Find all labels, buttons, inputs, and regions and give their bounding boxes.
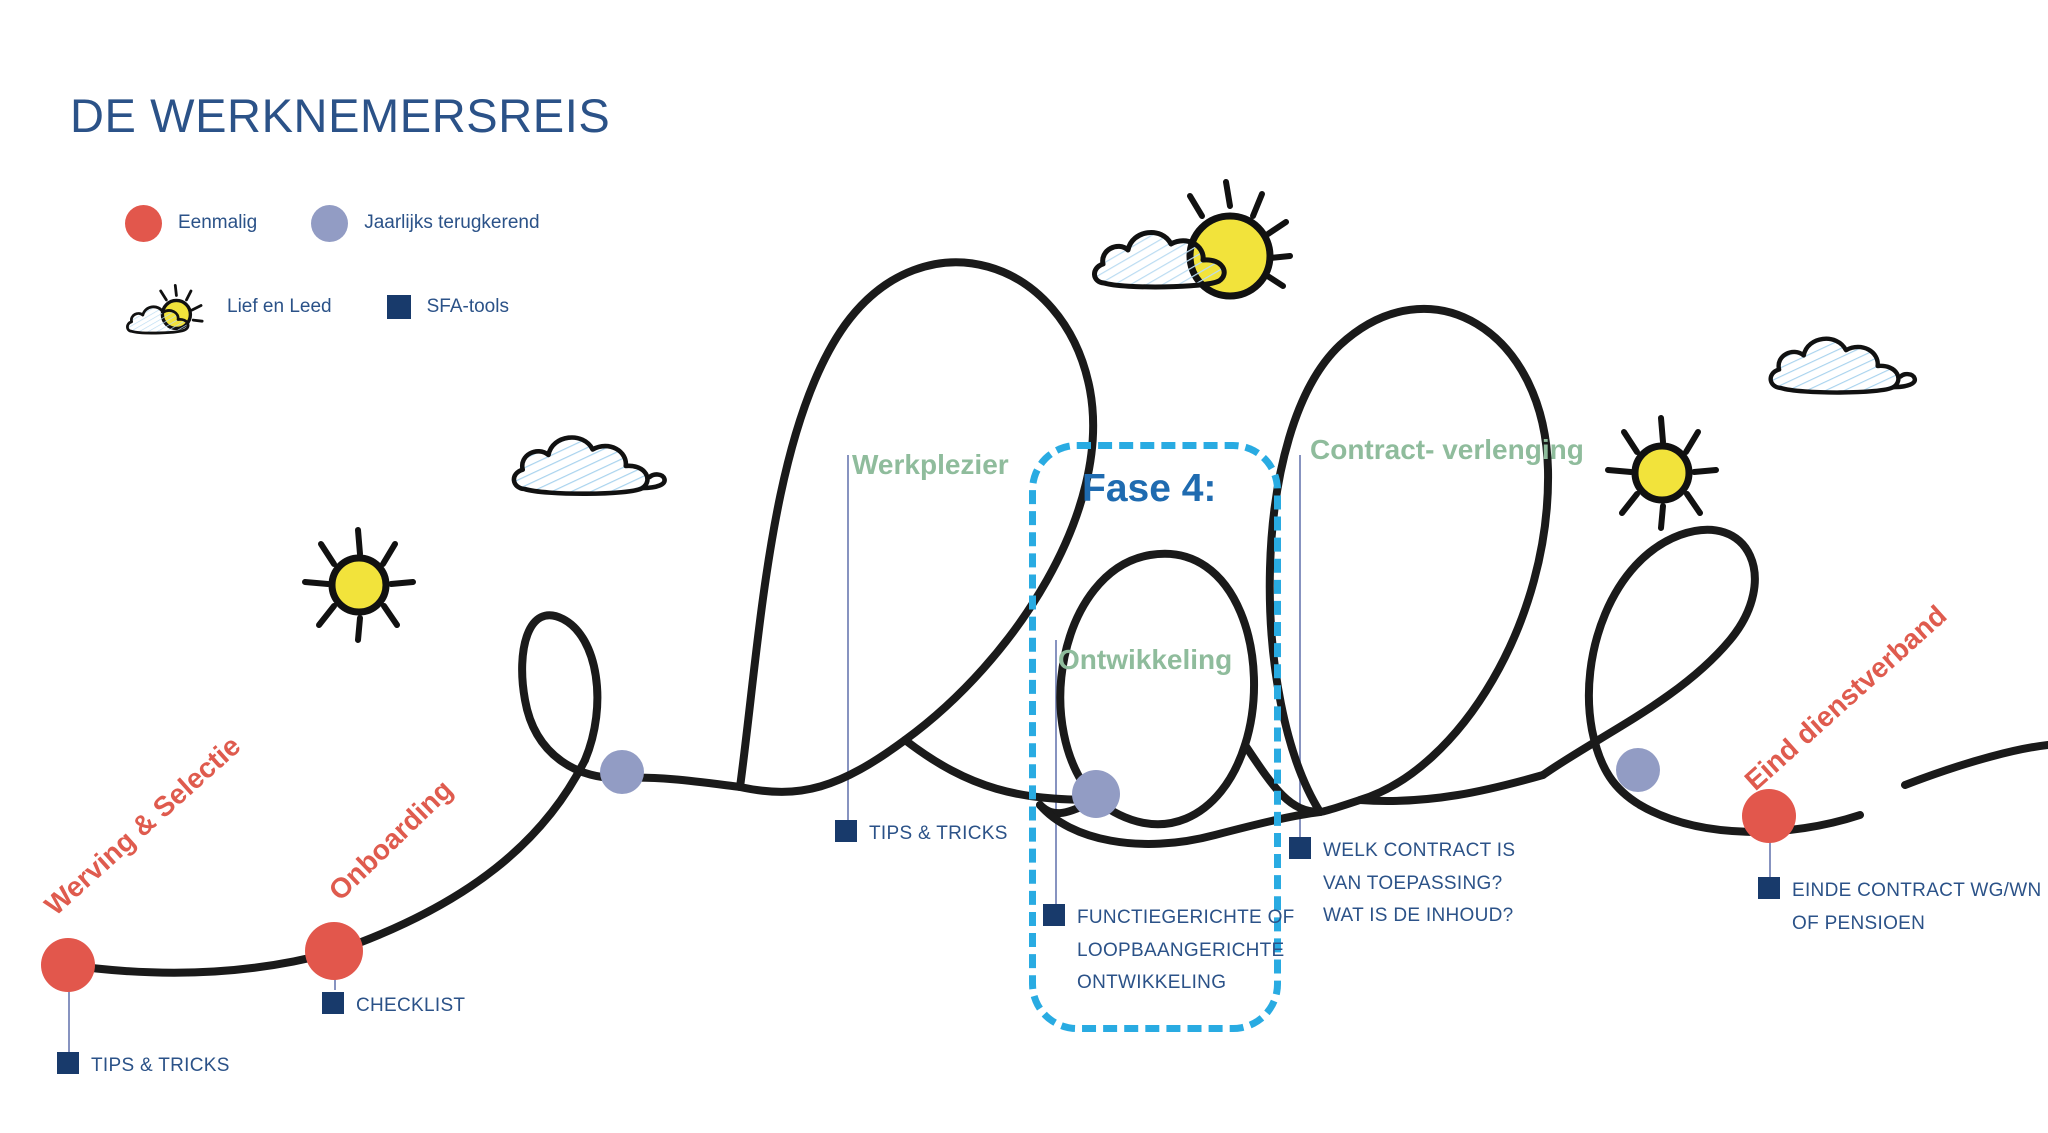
sun-cloud-icon-top	[1094, 182, 1290, 296]
callout-text: FUNCTIEGERICHTE OF LOOPBAANGERICHTE ONTW…	[1077, 902, 1295, 1000]
blue-square-icon	[387, 295, 411, 319]
cloud-icon-right	[1771, 339, 1915, 393]
callout-text: EINDE CONTRACT WG/WN OF PENSIOEN	[1792, 875, 2041, 940]
legend-label-sfa-tools: SFA-tools	[427, 296, 509, 318]
legend-row-bottom: Lief en Leed SFA-tools	[125, 284, 540, 330]
milestone-loop-left[interactable]	[600, 750, 644, 794]
callout-contract-tool[interactable]: WELK CONTRACT IS VAN TOEPASSING? WAT IS …	[1289, 835, 1515, 933]
callout-tips-tricks-werving[interactable]: TIPS & TRICKS	[57, 1050, 230, 1083]
legend-label-jaarlijks: Jaarlijks terugkerend	[364, 212, 539, 234]
callout-einde-contract-tool[interactable]: EINDE CONTRACT WG/WN OF PENSIOEN	[1758, 875, 2041, 940]
infographic-canvas: DE WERKNEMERSREIS Eenmalig Jaarlijks ter…	[0, 0, 2048, 1133]
legend-item-eenmalig: Eenmalig	[125, 205, 257, 242]
milestone-werving[interactable]	[41, 938, 95, 992]
callout-text: TIPS & TRICKS	[869, 818, 1008, 851]
blue-square-icon	[1758, 877, 1780, 899]
legend-item-sfa-tools: SFA-tools	[387, 295, 509, 319]
blue-square-icon	[322, 992, 344, 1014]
sun-icon-left	[305, 530, 413, 640]
legend-label-eenmalig: Eenmalig	[178, 212, 257, 234]
blue-square-icon	[835, 820, 857, 842]
callout-text: TIPS & TRICKS	[91, 1050, 230, 1083]
sun-cloud-icon	[125, 282, 211, 338]
callout-checklist-onboarding[interactable]: CHECKLIST	[322, 990, 465, 1023]
purple-circle-icon	[311, 205, 348, 242]
legend-item-lief-en-leed: Lief en Leed	[125, 279, 332, 335]
milestone-eind[interactable]	[1742, 789, 1796, 843]
blue-square-icon	[1043, 904, 1065, 926]
stage-label-contractverlenging: Contract- verlenging	[1310, 435, 1584, 466]
page-title: DE WERKNEMERSREIS	[70, 88, 610, 143]
blue-square-icon	[57, 1052, 79, 1074]
cloud-icon-left	[514, 438, 665, 494]
legend-item-jaarlijks: Jaarlijks terugkerend	[311, 205, 539, 242]
callout-tips-tricks-werkplezier[interactable]: TIPS & TRICKS	[835, 818, 1008, 851]
legend: Eenmalig Jaarlijks terugkerend	[125, 200, 540, 330]
sun-icon-right	[1608, 418, 1716, 528]
legend-row-top: Eenmalig Jaarlijks terugkerend	[125, 200, 540, 246]
red-circle-icon	[125, 205, 162, 242]
milestone-contract[interactable]	[1616, 748, 1660, 792]
fase-4-label: Fase 4:	[1082, 467, 1216, 511]
milestone-onboarding[interactable]	[305, 922, 363, 980]
callout-text: WELK CONTRACT IS VAN TOEPASSING? WAT IS …	[1323, 835, 1515, 933]
blue-square-icon	[1289, 837, 1311, 859]
stage-label-werkplezier: Werkplezier	[852, 450, 1009, 481]
callout-ontwikkeling-tool[interactable]: FUNCTIEGERICHTE OF LOOPBAANGERICHTE ONTW…	[1043, 902, 1295, 1000]
journey-path-graphic	[0, 0, 2048, 1133]
legend-label-lief-en-leed: Lief en Leed	[227, 296, 332, 318]
callout-text: CHECKLIST	[356, 990, 465, 1023]
